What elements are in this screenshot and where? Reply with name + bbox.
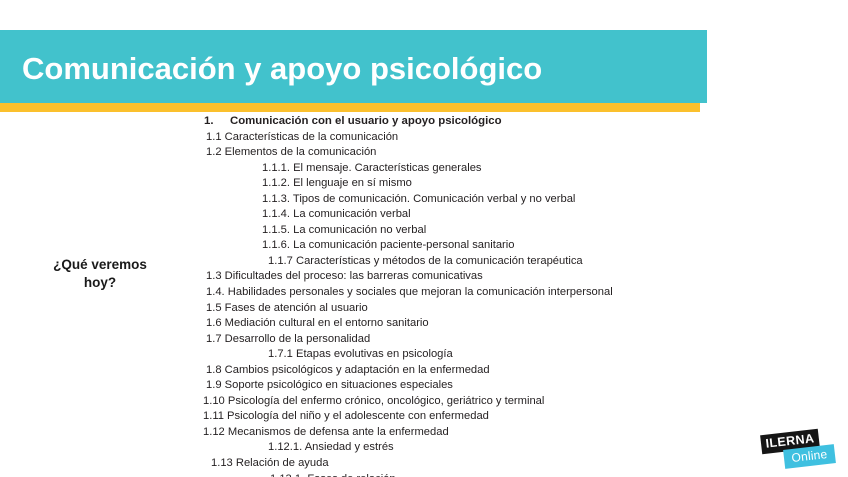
- outline-item: 1.1 Características de la comunicación: [202, 130, 842, 146]
- outline-item: 1.1.3. Tipos de comunicación. Comunicaci…: [202, 192, 842, 208]
- outline-item: 1.2 Elementos de la comunicación: [202, 145, 842, 161]
- outline-heading-number: 1.: [204, 114, 230, 130]
- outline-item: 1.12 Mecanismos de defensa ante la enfer…: [202, 425, 842, 441]
- outline-item: 1.8 Cambios psicológicos y adaptación en…: [202, 363, 842, 379]
- outline-item: 1.7 Desarrollo de la personalidad: [202, 332, 842, 348]
- outline-item: 1.5 Fases de atención al usuario: [202, 301, 842, 317]
- question-line-2: hoy?: [14, 274, 186, 292]
- outline-item: 1.1.5. La comunicación no verbal: [202, 223, 842, 239]
- outline-item: 1.1.7 Características y métodos de la co…: [202, 254, 842, 270]
- ilerna-online-logo: ILERNA Online: [755, 428, 841, 472]
- outline-item: 1.12.1. Ansiedad y estrés: [202, 440, 842, 456]
- outline-item: 1.11 Psicología del niño y el adolescent…: [202, 409, 842, 425]
- question-line-1: ¿Qué veremos: [14, 256, 186, 274]
- outline-item: 1.9 Soporte psicológico en situaciones e…: [202, 378, 842, 394]
- slide-canvas: Comunicación y apoyo psicológico ¿Qué ve…: [0, 0, 848, 477]
- outline-item: 1.10 Psicología del enfermo crónico, onc…: [202, 394, 842, 410]
- outline-item: 1.6 Mediación cultural en el entorno san…: [202, 316, 842, 332]
- outline-item: 1.1.4. La comunicación verbal: [202, 207, 842, 223]
- outline-list: 1.Comunicación con el usuario y apoyo ps…: [202, 114, 842, 477]
- outline-heading: 1.Comunicación con el usuario y apoyo ps…: [202, 114, 842, 130]
- outline-item: 1.4. Habilidades personales y sociales q…: [202, 285, 842, 301]
- outline-item: 1.7.1 Etapas evolutivas en psicología: [202, 347, 842, 363]
- outline-item: 1.13 Relación de ayuda: [202, 456, 842, 472]
- page-title: Comunicación y apoyo psicológico: [22, 47, 682, 91]
- outline-item: 1.3 Dificultades del proceso: las barrer…: [202, 269, 842, 285]
- outline-item: 1.1.6. La comunicación paciente-personal…: [202, 238, 842, 254]
- section-question-label: ¿Qué veremos hoy?: [14, 256, 186, 292]
- outline-item: 1.1.2. El lenguaje en sí mismo: [202, 176, 842, 192]
- outline-item: 1.13.1. Fases de relación: [202, 472, 842, 477]
- header-accent-bar: [0, 103, 700, 112]
- outline-heading-text: Comunicación con el usuario y apoyo psic…: [230, 115, 502, 127]
- outline-item: 1.1.1. El mensaje. Características gener…: [202, 161, 842, 177]
